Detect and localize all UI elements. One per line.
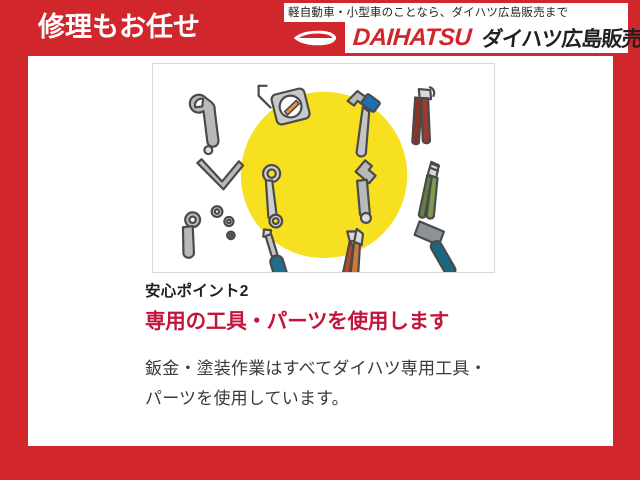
text-block: 安心ポイント2 専用の工具・パーツを使用します 鈑金・塗装作業はすべてダイハツ専…: [145, 281, 505, 414]
daihatsu-d-mark-icon: [284, 22, 345, 53]
open-end-wrench-icon: [170, 91, 235, 156]
brand-company-name-jp: ダイハツ広島販売: [481, 23, 640, 53]
point-label: 安心ポイント2: [145, 281, 505, 303]
brand-logo-row: DAIHATSU ダイハツ広島販売: [284, 22, 628, 53]
brand-wordmark: DAIHATSU: [352, 24, 472, 52]
brand-tagline: 軽自動車・小型車のことなら、ダイハツ広島販売まで: [288, 5, 568, 21]
point-heading: 専用の工具・パーツを使用します: [145, 310, 497, 334]
slide-root: 修理もお任せ 軽自動車・小型車のことなら、ダイハツ広島販売まで DAIHATSU…: [0, 0, 640, 480]
point-body: 鈑金・塗装作業はすべてダイハツ専用工具・パーツを使用しています。: [145, 354, 497, 414]
header-bar: 修理もお任せ 軽自動車・小型車のことなら、ダイハツ広島販売まで DAIHATSU…: [0, 0, 640, 56]
tools-illustration: .o { fill:none; stroke:#4a4a4a; stroke-w…: [152, 63, 495, 273]
socket-ratchet-icon: [166, 206, 235, 260]
long-nose-pliers-icon: [400, 160, 460, 223]
allen-key-icon: [197, 157, 244, 191]
brand-logo-lockup: 軽自動車・小型車のことなら、ダイハツ広島販売まで DAIHATSU ダイハツ広島…: [284, 3, 628, 53]
content-card: .o { fill:none; stroke:#4a4a4a; stroke-w…: [28, 56, 613, 446]
mallet-icon: [403, 217, 472, 272]
locking-pliers-icon: [391, 82, 456, 150]
page-title: 修理もお任せ: [38, 8, 200, 46]
